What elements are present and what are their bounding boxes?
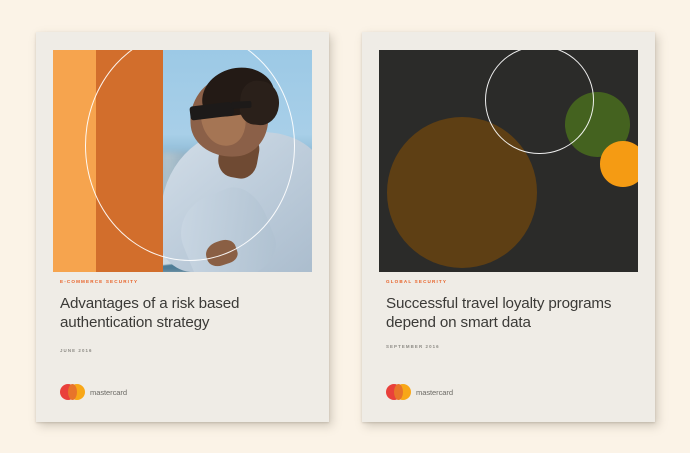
cover-eyebrow: GLOBAL SECURITY bbox=[386, 280, 635, 285]
mastercard-circles-icon bbox=[386, 384, 411, 400]
dark-panel bbox=[379, 50, 638, 272]
cover-text-block: E-COMMERCE SECURITY Advantages of a risk… bbox=[60, 280, 309, 354]
mastercard-circles-icon bbox=[60, 384, 85, 400]
cover-text-block: GLOBAL SECURITY Successful travel loyalt… bbox=[386, 280, 635, 350]
page-canvas: E-COMMERCE SECURITY Advantages of a risk… bbox=[0, 0, 690, 453]
cover-title: Successful travel loyalty programs depen… bbox=[386, 294, 635, 333]
logo-overlap-shape bbox=[68, 384, 77, 400]
logo-wordmark: mastercard bbox=[416, 388, 453, 397]
cover-date: JUNE 2016 bbox=[60, 349, 309, 353]
orange-circle bbox=[600, 141, 638, 187]
logo-overlap-shape bbox=[394, 384, 403, 400]
circle-outline-overlay bbox=[485, 50, 594, 154]
cover-artwork-photo bbox=[53, 50, 312, 272]
cover-title: Advantages of a risk based authenticatio… bbox=[60, 294, 309, 333]
cover-eyebrow: E-COMMERCE SECURITY bbox=[60, 280, 309, 285]
logo-wordmark: mastercard bbox=[90, 388, 127, 397]
mastercard-logo: mastercard bbox=[386, 384, 453, 400]
report-cover-risk-based-authentication[interactable]: E-COMMERCE SECURITY Advantages of a risk… bbox=[36, 32, 329, 422]
report-cover-travel-loyalty-programs[interactable]: GLOBAL SECURITY Successful travel loyalt… bbox=[362, 32, 655, 422]
cover-artwork-abstract bbox=[379, 50, 638, 272]
cover-date: SEPTEMBER 2016 bbox=[386, 345, 635, 349]
mastercard-logo: mastercard bbox=[60, 384, 127, 400]
